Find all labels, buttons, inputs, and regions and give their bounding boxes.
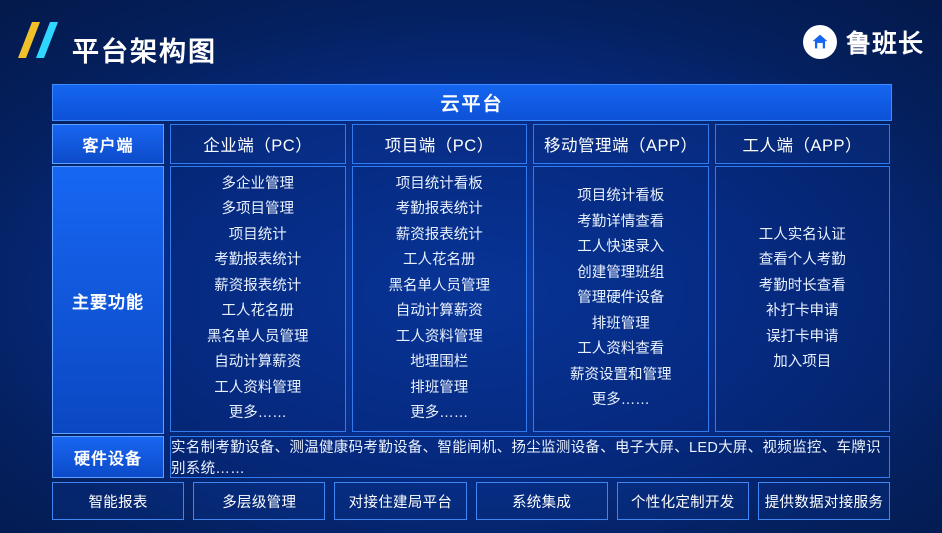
list-item: 管理硬件设备 bbox=[577, 286, 664, 312]
double-slash-logo-icon bbox=[14, 16, 62, 64]
page-header: 平台架构图 鲁班长 bbox=[0, 0, 942, 80]
list-item: 薪资报表统计 bbox=[396, 223, 483, 249]
list-item: 工人资料查看 bbox=[577, 337, 664, 363]
list-item: 查看个人考勤 bbox=[759, 248, 846, 274]
list-item: 考勤报表统计 bbox=[396, 197, 483, 223]
service-chip-custom-development[interactable]: 个性化定制开发 bbox=[617, 482, 749, 520]
list-item: 更多…… bbox=[410, 401, 468, 427]
row-label-main-functions: 主要功能 bbox=[52, 166, 164, 434]
column-head-worker[interactable]: 工人端（APP） bbox=[715, 124, 891, 164]
service-chip-system-integration[interactable]: 系统集成 bbox=[476, 482, 608, 520]
service-chip-data-integration-service[interactable]: 提供数据对接服务 bbox=[758, 482, 890, 520]
brand: 鲁班长 bbox=[803, 24, 924, 60]
column-body-worker: 工人实名认证 查看个人考勤 考勤时长查看 补打卡申请 误打卡申请 加入项目 bbox=[715, 166, 891, 432]
list-item: 考勤详情查看 bbox=[577, 210, 664, 236]
list-item: 黑名单人员管理 bbox=[389, 274, 491, 300]
list-item: 工人资料管理 bbox=[396, 325, 483, 351]
list-item: 加入项目 bbox=[773, 350, 831, 376]
list-item: 工人快速录入 bbox=[577, 235, 664, 261]
column-head-mobile-admin[interactable]: 移动管理端（APP） bbox=[533, 124, 709, 164]
client-row: 客户端 企业端（PC） 项目端（PC） 移动管理端（APP） 工人端（APP） bbox=[52, 124, 890, 162]
list-item: 补打卡申请 bbox=[766, 299, 839, 325]
list-item: 多企业管理 bbox=[222, 172, 295, 198]
list-item: 黑名单人员管理 bbox=[207, 325, 309, 351]
list-item: 工人资料管理 bbox=[214, 376, 301, 402]
list-item: 排班管理 bbox=[410, 376, 468, 402]
hardware-list: 实名制考勤设备、测温健康码考勤设备、智能闸机、扬尘监测设备、电子大屏、LED大屏… bbox=[170, 436, 890, 478]
service-chip-gov-platform-integration[interactable]: 对接住建局平台 bbox=[334, 482, 466, 520]
column-head-enterprise[interactable]: 企业端（PC） bbox=[170, 124, 346, 164]
list-item: 项目统计看板 bbox=[577, 184, 664, 210]
cloud-platform-bar: 云平台 bbox=[52, 84, 892, 121]
list-item: 考勤报表统计 bbox=[214, 248, 301, 274]
row-label-hardware: 硬件设备 bbox=[52, 436, 164, 478]
list-item: 工人花名册 bbox=[222, 299, 295, 325]
house-circle-icon bbox=[803, 25, 837, 59]
service-chip-multilevel-management[interactable]: 多层级管理 bbox=[193, 482, 325, 520]
list-item: 多项目管理 bbox=[222, 197, 295, 223]
service-chip-row: 智能报表 多层级管理 对接住建局平台 系统集成 个性化定制开发 提供数据对接服务 bbox=[52, 482, 890, 518]
list-item: 更多…… bbox=[592, 388, 650, 414]
list-item: 项目统计 bbox=[229, 223, 287, 249]
hardware-row: 硬件设备 实名制考勤设备、测温健康码考勤设备、智能闸机、扬尘监测设备、电子大屏、… bbox=[52, 436, 890, 476]
column-head-project[interactable]: 项目端（PC） bbox=[352, 124, 528, 164]
column-body-project: 项目统计看板 考勤报表统计 薪资报表统计 工人花名册 黑名单人员管理 自动计算薪… bbox=[352, 166, 528, 432]
list-item: 创建管理班组 bbox=[577, 261, 664, 287]
list-item: 考勤时长查看 bbox=[759, 274, 846, 300]
list-item: 自动计算薪资 bbox=[214, 350, 301, 376]
list-item: 误打卡申请 bbox=[766, 325, 839, 351]
list-item: 排班管理 bbox=[592, 312, 650, 338]
list-item: 工人花名册 bbox=[403, 248, 476, 274]
list-item: 更多…… bbox=[229, 401, 287, 427]
list-item: 地理围栏 bbox=[410, 350, 468, 376]
list-item: 薪资报表统计 bbox=[214, 274, 301, 300]
list-item: 自动计算薪资 bbox=[396, 299, 483, 325]
list-item: 工人实名认证 bbox=[759, 223, 846, 249]
main-functions-row: 主要功能 多企业管理 多项目管理 项目统计 考勤报表统计 薪资报表统计 工人花名… bbox=[52, 166, 890, 432]
list-item: 薪资设置和管理 bbox=[570, 363, 672, 389]
list-item: 项目统计看板 bbox=[396, 172, 483, 198]
row-label-client: 客户端 bbox=[52, 124, 164, 164]
column-body-mobile-admin: 项目统计看板 考勤详情查看 工人快速录入 创建管理班组 管理硬件设备 排班管理 … bbox=[533, 166, 709, 432]
page-title: 平台架构图 bbox=[72, 30, 217, 69]
service-chip-smart-report[interactable]: 智能报表 bbox=[52, 482, 184, 520]
column-body-enterprise: 多企业管理 多项目管理 项目统计 考勤报表统计 薪资报表统计 工人花名册 黑名单… bbox=[170, 166, 346, 432]
brand-name: 鲁班长 bbox=[846, 24, 924, 60]
diagram-root: 平台架构图 鲁班长 云平台 客户端 企业端（PC） 项目端（PC） 移动管理端（… bbox=[0, 0, 942, 533]
